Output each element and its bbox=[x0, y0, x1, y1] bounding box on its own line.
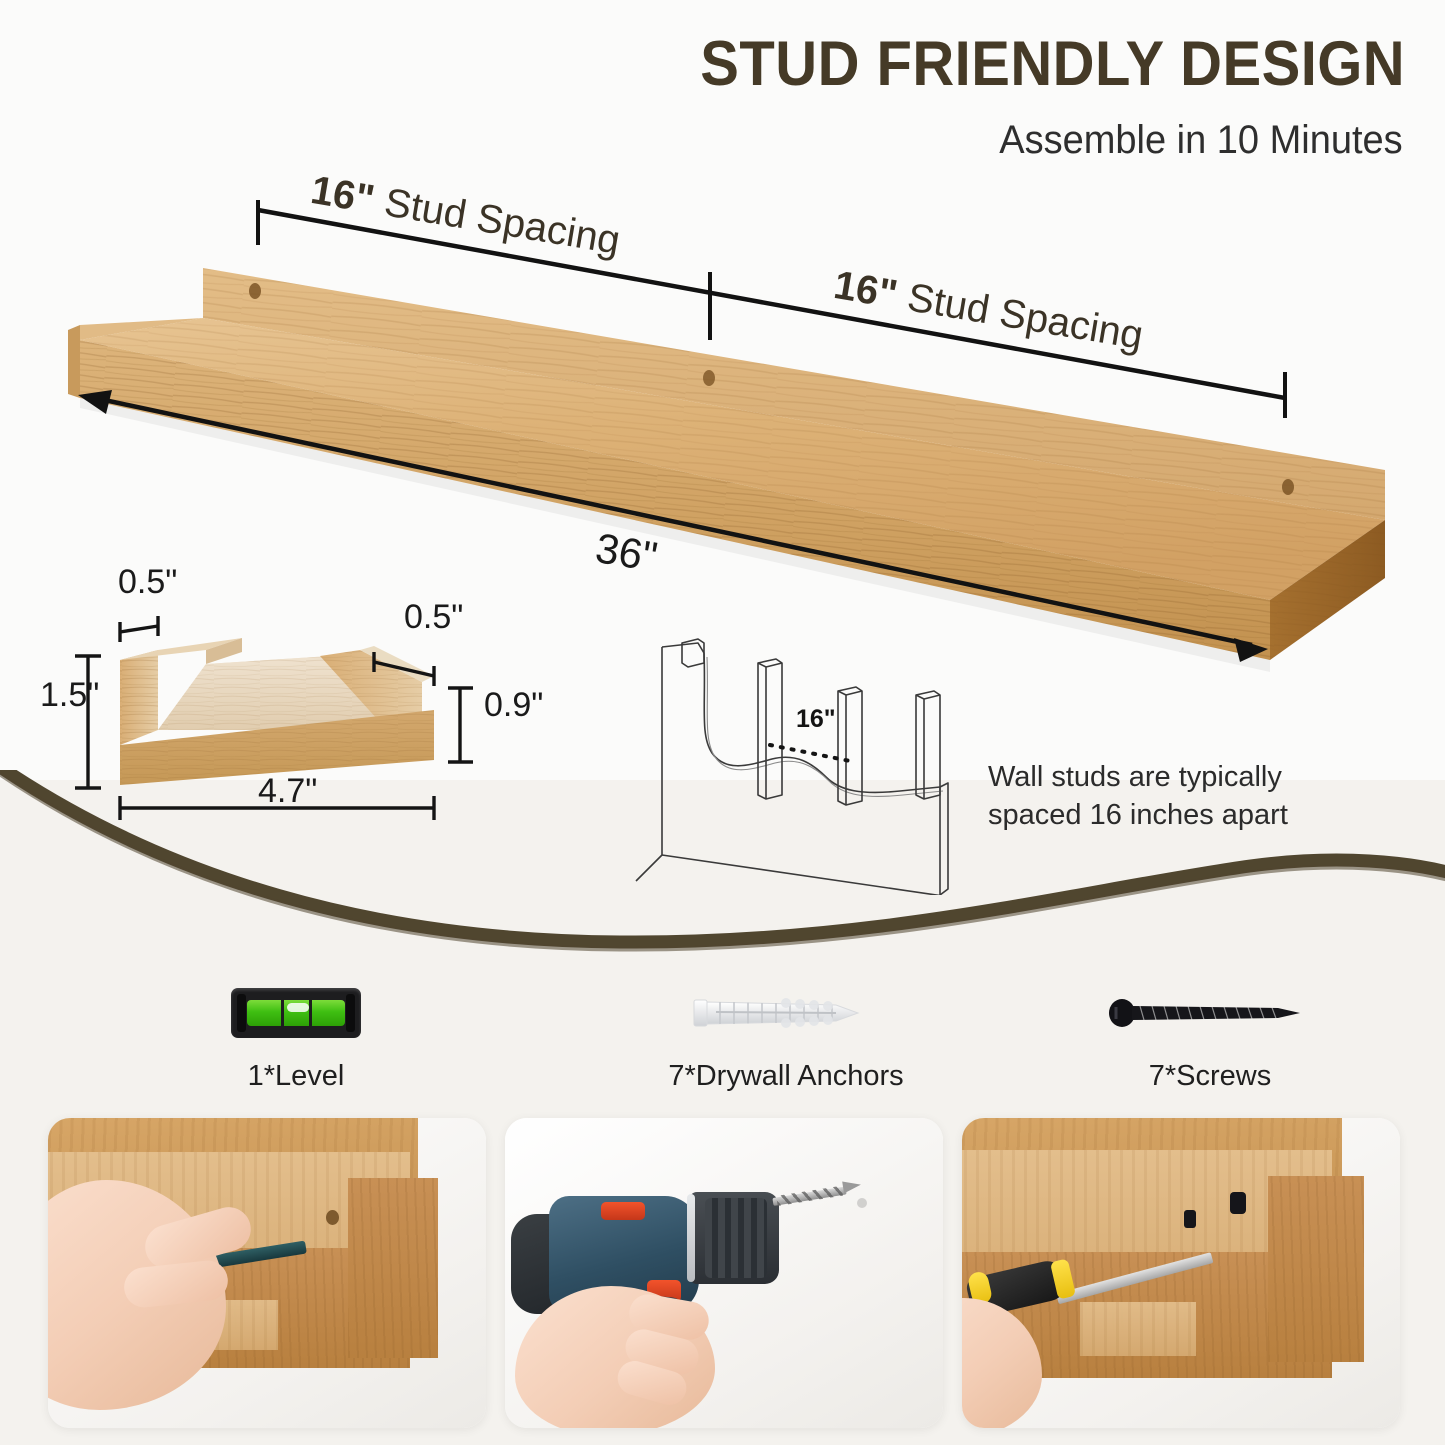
wood-screw-icon bbox=[1040, 978, 1380, 1048]
hardware-item-screws: 7*Screws bbox=[1040, 978, 1380, 1093]
hardware-item-level: 1*Level bbox=[160, 978, 432, 1093]
step-photo-mark-holes bbox=[48, 1118, 486, 1428]
bubble-level-icon bbox=[160, 978, 432, 1048]
stud-spacing-value-left: 16" bbox=[308, 168, 378, 222]
step-photo-drill-holes bbox=[505, 1118, 943, 1428]
dim-label-lip-height: 0.9" bbox=[484, 686, 543, 725]
dim-label-front-lip-thickness: 0.5" bbox=[404, 598, 463, 637]
drywall-anchor-icon bbox=[586, 978, 986, 1048]
hardware-item-anchors: 7*Drywall Anchors bbox=[586, 978, 986, 1093]
hardware-label-screws: 7*Screws bbox=[1040, 1060, 1380, 1093]
hardware-label-level: 1*Level bbox=[160, 1060, 432, 1093]
dim-label-total-height: 1.5" bbox=[40, 676, 99, 715]
hardware-label-anchors: 7*Drywall Anchors bbox=[586, 1060, 986, 1093]
shelf-length-label: 36" bbox=[592, 524, 661, 582]
stud-spacing-16-label: 16" bbox=[796, 705, 836, 733]
infographic-canvas: STUD FRIENDLY DESIGN Assemble in 10 Minu… bbox=[0, 0, 1445, 1445]
stud-spacing-value-right: 16" bbox=[831, 263, 901, 317]
dim-label-back-lip-thickness: 0.5" bbox=[118, 563, 177, 602]
step-photo-drive-screws bbox=[962, 1118, 1400, 1428]
